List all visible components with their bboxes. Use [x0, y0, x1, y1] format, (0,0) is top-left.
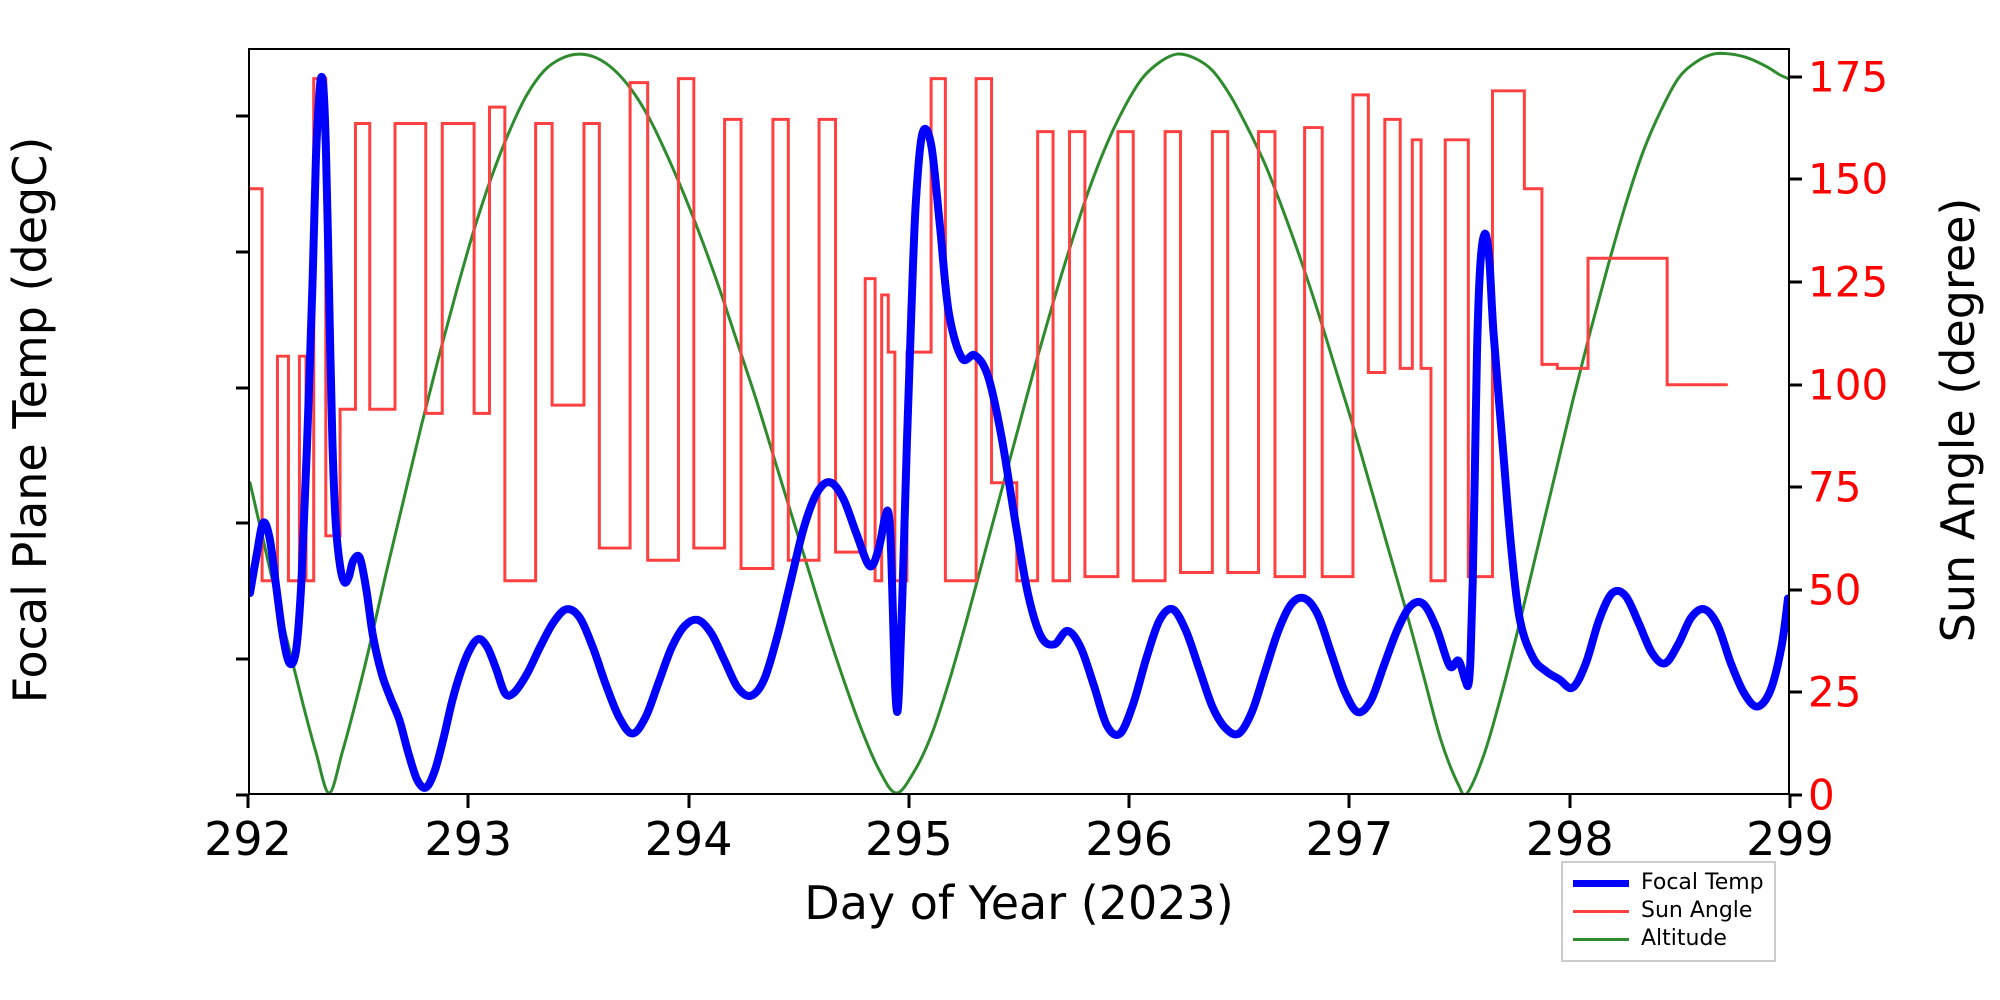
- plot-area: [248, 48, 1790, 795]
- right-axis-tick-label: 175: [1808, 52, 1888, 101]
- legend-swatch-sun-angle: [1573, 910, 1629, 913]
- x-axis-tick-label: 299: [1746, 812, 1834, 866]
- right-axis-tick-label: 100: [1808, 360, 1888, 409]
- right-axis-tick-label: 75: [1808, 463, 1861, 512]
- x-axis-tick-mark: [467, 795, 470, 808]
- x-axis-tick-label: 296: [1085, 812, 1173, 866]
- x-axis-tick-label: 298: [1526, 812, 1614, 866]
- series-focal-temp: [250, 77, 1788, 788]
- right-axis-tick-label: 25: [1808, 668, 1861, 717]
- legend-swatch-altitude: [1573, 938, 1629, 941]
- legend-swatch-focal-temp: [1573, 880, 1629, 887]
- figure: Focal Plane Temp (degC) −95−100−105−110−…: [0, 0, 2000, 1000]
- right-axis-tick-mark: [1790, 178, 1802, 181]
- legend-label: Focal Temp: [1641, 872, 1764, 894]
- right-axis-tick-label: 125: [1808, 257, 1888, 306]
- x-axis-tick-mark: [247, 795, 250, 808]
- series-line-focal-temp: [250, 77, 1788, 788]
- legend-item[interactable]: Sun Angle: [1573, 897, 1764, 925]
- left-axis-tick-mark: [236, 658, 248, 661]
- legend-item[interactable]: Focal Temp: [1573, 869, 1764, 897]
- x-axis-tick-label: 297: [1306, 812, 1394, 866]
- legend-label: Sun Angle: [1641, 900, 1752, 922]
- x-axis-tick-mark: [1348, 795, 1351, 808]
- x-axis-tick-mark: [1128, 795, 1131, 808]
- right-axis-tick-mark: [1790, 794, 1802, 797]
- right-axis-tick-label: 50: [1808, 565, 1861, 614]
- legend[interactable]: Focal TempSun AngleAltitude: [1561, 861, 1776, 962]
- x-axis-tick-label: 294: [645, 812, 733, 866]
- left-axis-tick-mark: [236, 250, 248, 253]
- x-axis-tick-mark: [1789, 795, 1792, 808]
- right-axis-tick-mark: [1790, 75, 1802, 78]
- left-axis-title: Focal Plane Temp (degC): [3, 137, 57, 704]
- x-axis-tick-label: 295: [865, 812, 953, 866]
- left-axis-tick-mark: [236, 522, 248, 525]
- plot-canvas: [250, 50, 1788, 793]
- right-axis-tick-mark: [1790, 486, 1802, 489]
- x-axis-tick-label: 293: [424, 812, 512, 866]
- right-axis-tick-mark: [1790, 691, 1802, 694]
- legend-label: Altitude: [1641, 928, 1727, 950]
- left-axis-tick-mark: [236, 386, 248, 389]
- right-axis-title: Sun Angle (degree): [1931, 198, 1985, 643]
- left-axis-tick-mark: [236, 114, 248, 117]
- x-axis-title: Day of Year (2023): [804, 876, 1233, 930]
- right-axis-tick-mark: [1790, 280, 1802, 283]
- x-axis-tick-label: 292: [204, 812, 292, 866]
- x-axis-tick-mark: [1568, 795, 1571, 808]
- right-axis-tick-mark: [1790, 588, 1802, 591]
- x-axis-tick-mark: [907, 795, 910, 808]
- x-axis-tick-mark: [687, 795, 690, 808]
- right-axis-tick-mark: [1790, 383, 1802, 386]
- legend-item[interactable]: Altitude: [1573, 925, 1764, 953]
- right-axis-tick-label: 150: [1808, 155, 1888, 204]
